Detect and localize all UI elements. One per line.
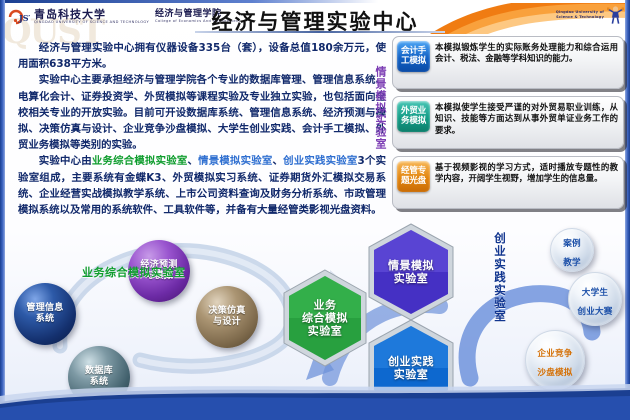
- hexagon-scenario-lab-text: 情景模拟 实验室: [366, 259, 456, 285]
- bottom-wave-decoration: [0, 378, 630, 420]
- keyword-entrepreneur-lab: 创业实践实验室: [283, 155, 357, 167]
- scenario-lab-vertical-label: 情景模拟实验室: [371, 66, 387, 150]
- hexagon-business-lab[interactable]: 业务 综合模拟 实验室: [281, 268, 369, 368]
- hex-business-l3: 实验室: [281, 325, 369, 338]
- hex-scenario-l1: 情景模拟: [366, 259, 456, 272]
- gsphere-sandbox-l2: 沙盘模拟: [537, 368, 572, 378]
- title-underline: [195, 31, 445, 33]
- badge-trade: 外贸业务模拟: [397, 101, 430, 132]
- callout-text-media: 基于视频影视的学习方式，适时播放专题性的教学内容，开阔学生视野，增加学生的信息量…: [435, 161, 618, 185]
- university-logo-right: Qingdao University of Science & Technolo…: [556, 5, 624, 24]
- gsphere-contest-l2: 创业大赛: [577, 307, 612, 317]
- sphere-decision-l2: 与设计: [208, 317, 245, 328]
- callout-card-trade[interactable]: 外贸业务模拟 本模拟使学生接受严谨的对外贸易职业训练，从知识、技能等方面达到从事…: [392, 96, 624, 149]
- gsphere-startup-contest[interactable]: 大学生创业大赛: [568, 272, 622, 326]
- callout-card-media[interactable]: 经管专题光盘 基于视频影视的学习方式，适时播放专题性的教学内容，开阔学生视野，增…: [392, 156, 624, 209]
- gsphere-case-l1: 案例: [563, 239, 581, 249]
- sphere-decision-simulation[interactable]: 决策仿真与设计: [196, 286, 258, 348]
- border-top: [0, 0, 630, 3]
- callout-card-accounting[interactable]: 会计手工模拟 本模拟锻炼学生的实际账务处理能力和综合运用会计、税法、金融等学科知…: [392, 36, 624, 89]
- university-logo-right-text: Qingdao University of Science & Technolo…: [556, 10, 604, 19]
- callout-card-list: 会计手工模拟 本模拟锻炼学生的实际账务处理能力和综合运用会计、税法、金融等学科知…: [392, 36, 624, 216]
- sphere-mis-l1: 管理信息: [26, 303, 63, 314]
- sphere-mis-l2: 系统: [26, 314, 63, 325]
- paragraph-1: 经济与管理实验中心拥有仪器设备335台（套），设备总值180余万元，使用面积63…: [18, 40, 386, 72]
- badge-accounting-l2: 工模拟: [401, 57, 426, 67]
- hex-business-l1: 业务: [281, 299, 369, 312]
- hexagon-scenario-lab[interactable]: 情景模拟 实验室: [366, 222, 456, 322]
- sphere-mis[interactable]: 管理信息系统: [14, 283, 76, 345]
- gsphere-contest-l1: 大学生: [582, 288, 608, 298]
- business-lab-label: 业务综合模拟实验室: [82, 264, 186, 280]
- sphere-decision-l1: 决策仿真: [208, 306, 245, 317]
- keyword-business-lab: 业务综合模拟实验室: [92, 155, 188, 167]
- logo-right-line2: Science & Technology: [556, 15, 604, 19]
- gsphere-case-l2: 教学: [563, 258, 581, 268]
- logo-right-line1: Qingdao University of: [556, 10, 604, 14]
- badge-trade-l2: 务模拟: [401, 117, 426, 127]
- p3-sep1: 、: [188, 155, 199, 167]
- callout-text-trade: 本模拟使学生接受严谨的对外贸易职业训练，从知识、技能等方面达到从事外贸单证业务工…: [435, 101, 618, 136]
- paragraph-2: 实验中心主要承担经济与管理学院各个专业的数据库管理、管理信息系统、电算化会计、证…: [18, 72, 386, 153]
- paragraph-3: 实验中心由业务综合模拟实验室、情景模拟实验室、创业实践实验室3个实验室组成，主要…: [18, 153, 386, 218]
- badge-media: 经管专题光盘: [397, 161, 430, 192]
- slide-root: QUST JST 青岛科技大学 QINGDAO UNIVERSITY OF SC…: [0, 0, 630, 420]
- p3-lead: 实验中心由: [39, 155, 92, 167]
- keyword-scenario-lab: 情景模拟实验室: [198, 155, 272, 167]
- sphere-database-l1: 数据库: [85, 366, 113, 377]
- p3-sep2: 、: [273, 155, 284, 167]
- hex-entrepreneur-l1: 创业实践: [366, 355, 456, 368]
- gsphere-sandbox-l1: 企业竞争: [537, 349, 572, 359]
- callout-text-accounting: 本模拟锻炼学生的实际账务处理能力和综合运用会计、税法、金融等学科知识的能力。: [435, 41, 618, 65]
- badge-media-l2: 题光盘: [401, 177, 426, 187]
- mascot-icon: [607, 5, 624, 24]
- hex-business-l2: 综合模拟: [281, 312, 369, 325]
- badge-accounting: 会计手工模拟: [397, 41, 430, 72]
- hex-scenario-l2: 实验室: [366, 272, 456, 285]
- gsphere-case-teaching[interactable]: 案例教学: [550, 228, 594, 272]
- hexagon-business-lab-text: 业务 综合模拟 实验室: [281, 299, 369, 338]
- body-text-block: 经济与管理实验中心拥有仪器设备335台（套），设备总值180余万元，使用面积63…: [18, 40, 386, 218]
- entrepreneur-lab-vertical-label: 创业实践实验室: [493, 232, 507, 323]
